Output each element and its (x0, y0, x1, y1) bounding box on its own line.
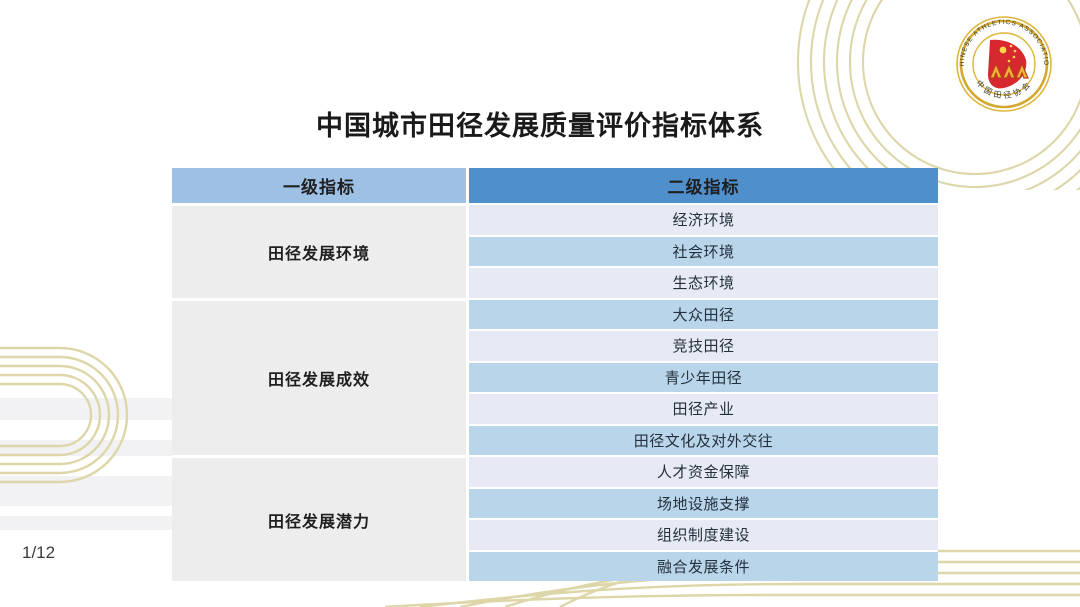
indicator-cell: 生态环境 (469, 266, 938, 298)
column-header-level1: 一级指标 (172, 168, 469, 203)
table-row: 田径发展潜力 人才资金保障 (172, 455, 938, 487)
slide-canvas: CHINESE ATHLETICS ASSOCIATION 中国田径协会 中国城… (0, 0, 1080, 607)
column-header-level2: 二级指标 (469, 168, 938, 203)
indicator-cell: 社会环境 (469, 235, 938, 267)
page-number: 1/12 (22, 543, 55, 563)
table-header-row: 一级指标 二级指标 (172, 168, 938, 203)
table-row: 田径发展环境 经济环境 (172, 203, 938, 235)
indicator-cell: 融合发展条件 (469, 550, 938, 582)
indicator-cell: 场地设施支撑 (469, 487, 938, 519)
indicator-cell: 田径文化及对外交往 (469, 424, 938, 456)
indicator-cell: 经济环境 (469, 203, 938, 235)
indicator-cell: 大众田径 (469, 298, 938, 330)
table-row: 田径发展成效 大众田径 (172, 298, 938, 330)
indicator-cell: 田径产业 (469, 392, 938, 424)
indicator-cell: 人才资金保障 (469, 455, 938, 487)
category-cell: 田径发展环境 (172, 203, 469, 298)
page-title: 中国城市田径发展质量评价指标体系 (0, 104, 1080, 143)
background-band (0, 398, 172, 420)
indicator-cell: 青少年田径 (469, 361, 938, 393)
table-body: 田径发展环境 经济环境 社会环境 生态环境 田径发展成效 大众田径 竞技田径 青… (172, 203, 938, 581)
indicator-cell: 竞技田径 (469, 329, 938, 361)
background-band (0, 476, 172, 506)
background-band (0, 516, 172, 530)
category-cell: 田径发展成效 (172, 298, 469, 456)
chinese-athletics-association-logo: CHINESE ATHLETICS ASSOCIATION 中国田径协会 (940, 6, 1068, 118)
table-header: 一级指标 二级指标 (172, 168, 938, 203)
indicator-cell: 组织制度建设 (469, 518, 938, 550)
indicator-system-table: 一级指标 二级指标 田径发展环境 经济环境 社会环境 生态环境 田径发展成效 大… (172, 168, 938, 581)
category-cell: 田径发展潜力 (172, 455, 469, 581)
background-band (0, 440, 172, 456)
logo-icon: CHINESE ATHLETICS ASSOCIATION 中国田径协会 (940, 6, 1068, 118)
